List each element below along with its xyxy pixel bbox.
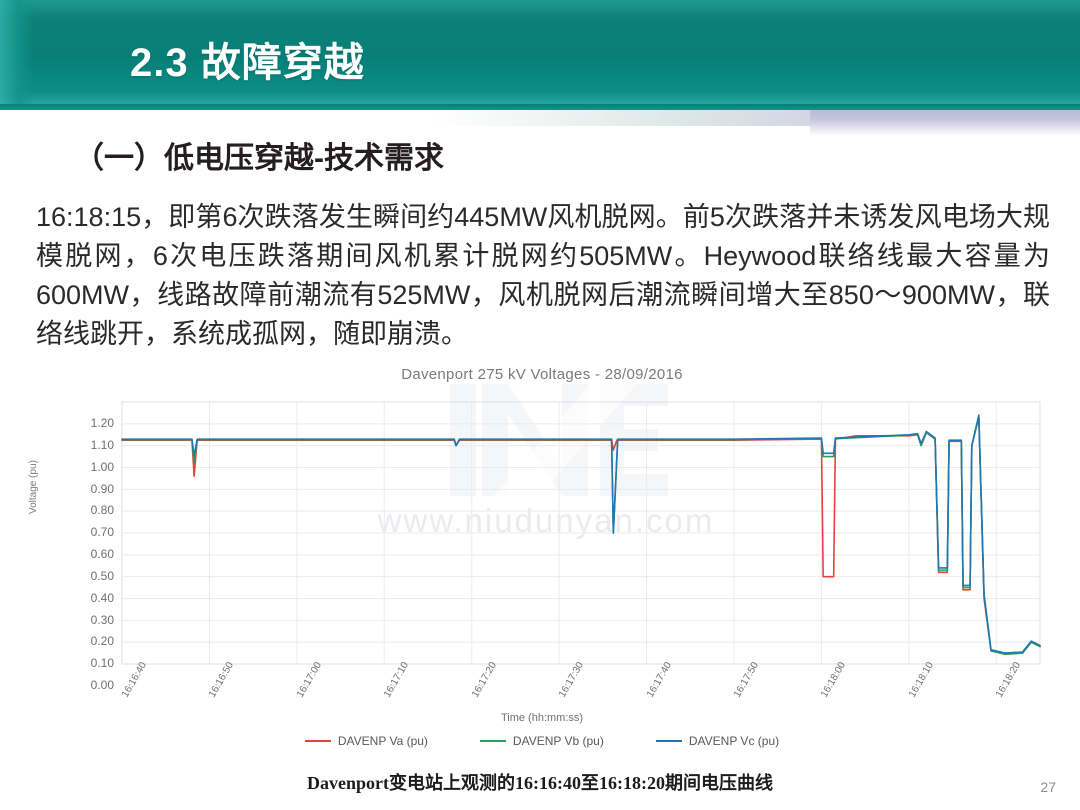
- figure-caption: Davenport变电站上观测的16:16:40至16:18:20期间电压曲线: [0, 769, 1080, 795]
- voltage-chart: Davenport 275 kV Voltages - 28/09/2016 w…: [36, 362, 1048, 764]
- series-line-DAVENPVbpu: [122, 416, 1040, 654]
- y-tick-label: 0.60: [58, 547, 114, 561]
- legend-swatch-icon: [656, 740, 682, 742]
- series-line-DAVENPVcpu: [122, 415, 1040, 653]
- header-gradient-fade: [810, 110, 1080, 136]
- legend-item[interactable]: DAVENP Vc (pu): [656, 734, 779, 748]
- chart-canvas: [36, 384, 1048, 690]
- y-tick-label: 0.10: [58, 656, 114, 670]
- y-tick-label: 0.50: [58, 569, 114, 583]
- legend-item[interactable]: DAVENP Va (pu): [305, 734, 428, 748]
- y-tick-label: 0.40: [58, 591, 114, 605]
- body-paragraph: 16:18:15，即第6次跌落发生瞬间约445MW风机脱网。前5次跌落并未诱发风…: [36, 198, 1050, 354]
- section-subtitle: （一）低电压穿越-技术需求: [74, 133, 444, 177]
- page-title: 2.3 故障穿越: [130, 30, 365, 88]
- y-tick-label: 0.30: [58, 613, 114, 627]
- y-tick-label: 0.90: [58, 482, 114, 496]
- header-accent-bar: [0, 0, 34, 104]
- page-number: 27: [1040, 779, 1056, 795]
- y-tick-label: 1.00: [58, 460, 114, 474]
- y-tick-label: 0.00: [58, 678, 114, 692]
- y-tick-label: 1.20: [58, 416, 114, 430]
- slide-header-banner: 2.3 故障穿越: [0, 0, 1080, 104]
- chart-title: Davenport 275 kV Voltages - 28/09/2016: [36, 366, 1048, 383]
- legend-swatch-icon: [305, 740, 331, 742]
- legend-item[interactable]: DAVENP Vb (pu): [480, 734, 604, 748]
- series-line-DAVENPVapu: [122, 417, 1040, 654]
- chart-legend: DAVENP Va (pu)DAVENP Vb (pu)DAVENP Vc (p…: [36, 734, 1048, 748]
- legend-label: DAVENP Vb (pu): [513, 734, 604, 748]
- header-gradient-fade-left: [430, 110, 830, 126]
- x-axis-label: Time (hh:mm:ss): [36, 712, 1048, 724]
- legend-label: DAVENP Vc (pu): [689, 734, 779, 748]
- legend-swatch-icon: [480, 740, 506, 742]
- legend-label: DAVENP Va (pu): [338, 734, 428, 748]
- y-tick-label: 0.70: [58, 525, 114, 539]
- y-tick-label: 1.10: [58, 438, 114, 452]
- chart-plot-area: Voltage (pu) 1.201.101.000.900.800.700.6…: [36, 384, 1048, 690]
- y-tick-label: 0.20: [58, 634, 114, 648]
- y-axis-label: Voltage (pu): [28, 460, 39, 514]
- y-tick-label: 0.80: [58, 503, 114, 517]
